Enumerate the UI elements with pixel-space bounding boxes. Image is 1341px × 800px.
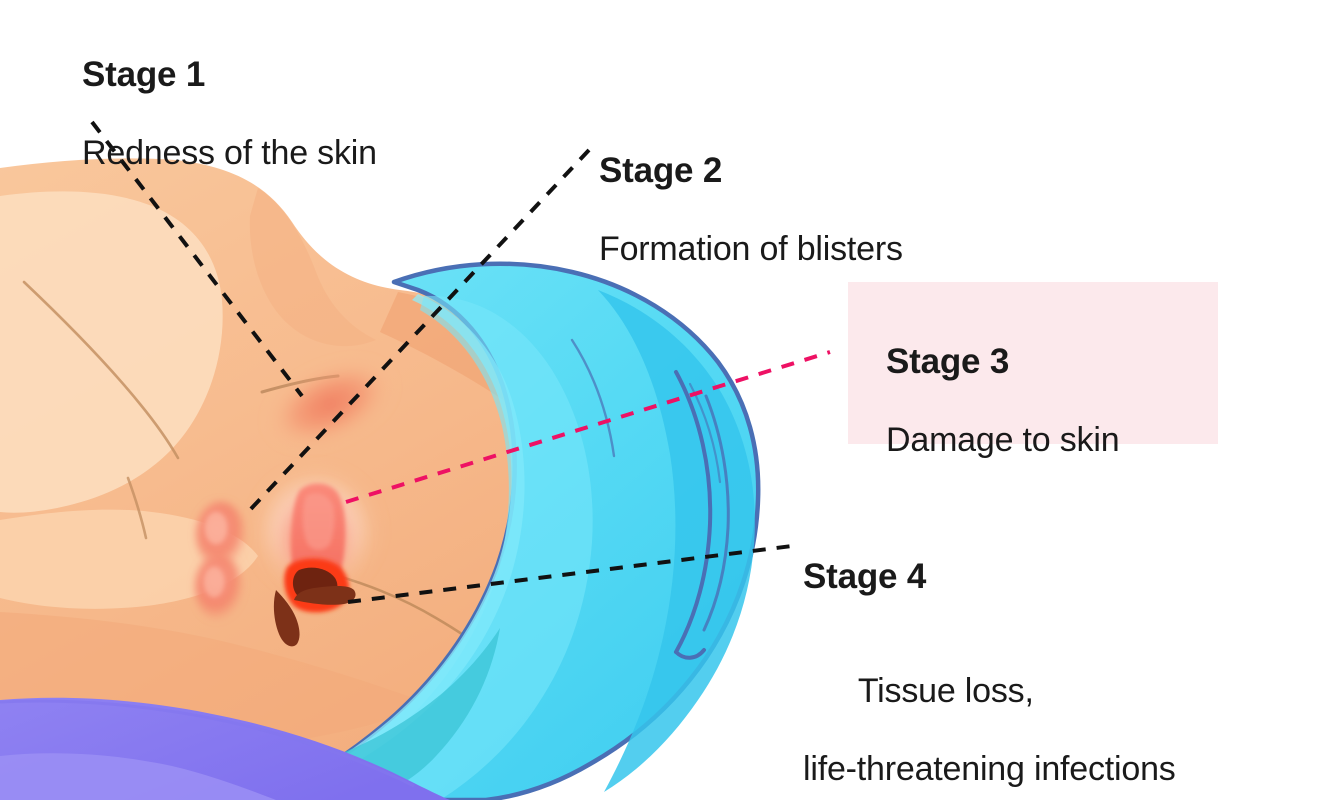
stage-1-title: Stage 1 [82, 56, 377, 93]
diagram-canvas: Stage 1 Redness of the skin Stage 2 Form… [0, 0, 1341, 800]
stage-2-description: Formation of blisters [599, 231, 903, 267]
stage-2-title: Stage 2 [599, 152, 903, 189]
stage-3-title: Stage 3 [886, 343, 1119, 380]
stage-4-description: Tissue loss, life-threatening infections [803, 637, 1176, 800]
stage-2-label[interactable]: Stage 2 Formation of blisters [599, 118, 903, 301]
stage-3-label[interactable]: Stage 3 Damage to skin [886, 309, 1119, 492]
stage-1-label[interactable]: Stage 1 Redness of the skin [82, 22, 377, 205]
stage-1-description: Redness of the skin [82, 135, 377, 171]
stage-4-description-line-2: life-threatening infections [803, 751, 1176, 787]
stage-4-description-line-1: Tissue loss, [858, 672, 1034, 710]
stage-4-title: Stage 4 [803, 558, 1176, 595]
stage-4-label[interactable]: Stage 4 Tissue loss, life-threatening in… [803, 524, 1176, 800]
stage-3-description: Damage to skin [886, 422, 1119, 458]
ulcer-body-highlight [303, 493, 335, 550]
